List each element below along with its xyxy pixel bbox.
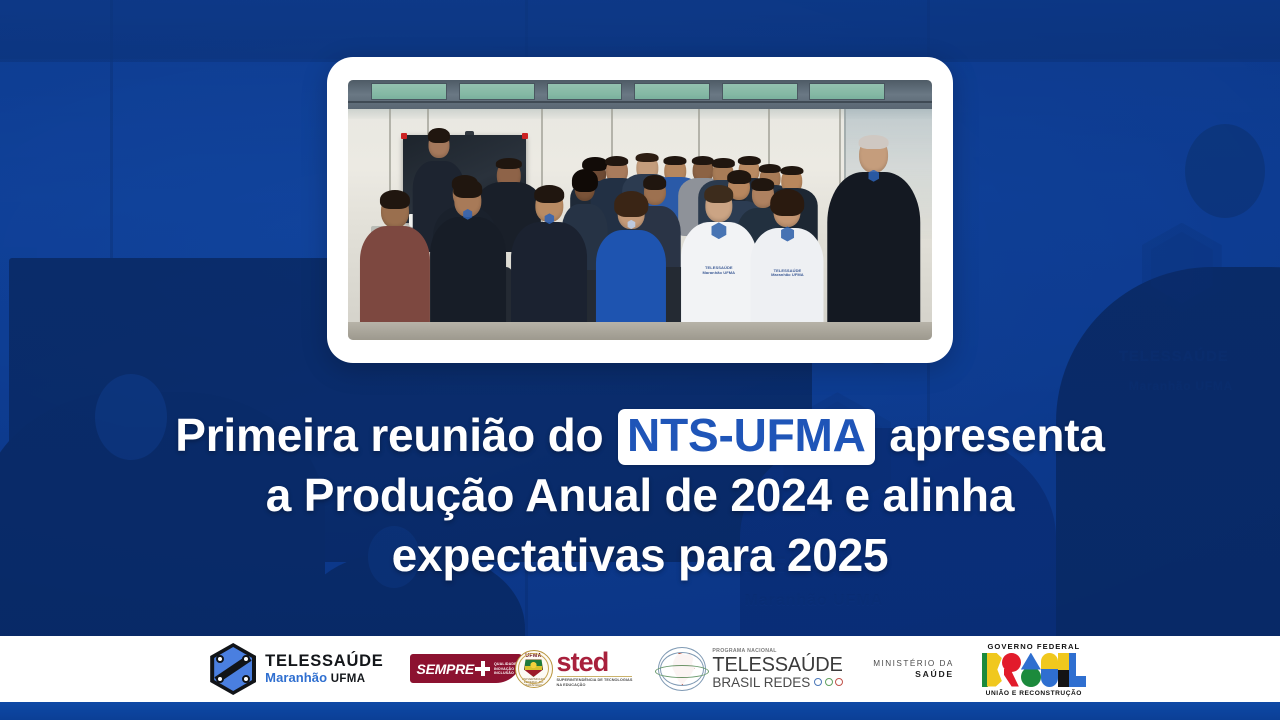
ministry-line-2: SAÚDE (873, 669, 954, 681)
plus-icon (475, 661, 490, 676)
photo-person (596, 197, 666, 340)
logo-sempre-mais-sted: SEMPRE QUALIDADE INOVAÇÃO INCLUSÃO UFMA … (410, 650, 633, 689)
logo-title: TELESSAÚDE (265, 653, 383, 670)
logo-telessaude-maranhao-ufma: TELESSAÚDE Maranhão UFMA (210, 643, 383, 695)
logo-title: TELESSAÚDE (712, 655, 843, 675)
sempre-word: SEMPRE (417, 661, 474, 677)
gov-bottom-label: UNIÃO E RECONSTRUÇÃO (982, 690, 1086, 697)
headline: Primeira reunião do NTS-UFMA apresenta a… (0, 406, 1280, 585)
headline-line1-after: apresenta (889, 409, 1105, 461)
photo-ceiling (348, 80, 932, 109)
three-dots-icon (814, 678, 843, 686)
logo-telessaude-brasil-redes: PROGRAMA NACIONAL TELESSAÚDE BRASIL REDE… (658, 647, 843, 691)
headline-line2: a Produção Anual de 2024 e alinha (90, 466, 1190, 526)
group-photo: TELESSAÚDEMaranhão UFMA TELESSAÚDEMaranh… (348, 80, 932, 340)
sted-sub-2: NA EDUCAÇÃO (557, 683, 633, 688)
headline-highlight-nts-ufma: NTS-UFMA (618, 409, 875, 465)
footer-logo-bar: TELESSAÚDE Maranhão UFMA SEMPRE QUALIDAD… (0, 636, 1280, 702)
sempre-mais-badge: SEMPRE QUALIDADE INOVAÇÃO INCLUSÃO (410, 654, 522, 683)
logo-subtitle-accent: Maranhão (265, 670, 327, 685)
brasil-wordmark-icon (982, 653, 1086, 687)
bottom-blue-strip (0, 702, 1280, 720)
gov-top-label: GOVERNO FEDERAL (982, 642, 1086, 651)
photo-person (827, 137, 920, 340)
photo-person: TELESSAÚDEMaranhão UFMA (751, 194, 824, 340)
logo-ministerio-da-saude: MINISTÉRIO DA SAÚDE (873, 658, 954, 681)
announcement-graphic: TELESSAÚDE Maranhão UFMA TELESSAÚDE Mara… (0, 0, 1280, 720)
photo-person (430, 184, 506, 340)
headline-line1-before: Primeira reunião do (175, 409, 603, 461)
ministry-line-1: MINISTÉRIO DA (873, 658, 954, 669)
sted-wordmark: sted (557, 650, 633, 675)
ufma-seal-icon: UFMA UNIVERSIDADE FEDERAL DO MARANHÃO (515, 650, 553, 688)
logo-subtitle: BRASIL REDES (712, 676, 810, 690)
photo-person: TELESSAÚDEMaranhão UFMA (681, 189, 757, 340)
headline-line3: expectativas para 2025 (90, 526, 1190, 586)
sempre-sub-3: INCLUSÃO (494, 671, 517, 676)
logo-governo-federal: GOVERNO FEDERAL UNIÃO E RECONSTRUÇÃO (982, 642, 1086, 697)
photo-person (512, 189, 588, 340)
photo-person (360, 194, 430, 340)
photo-card: TELESSAÚDEMaranhão UFMA TELESSAÚDEMaranh… (327, 57, 953, 363)
hexagon-network-icon (210, 643, 256, 695)
globe-brazil-map-icon (658, 647, 706, 691)
logo-subtitle-plain: UFMA (331, 673, 366, 685)
